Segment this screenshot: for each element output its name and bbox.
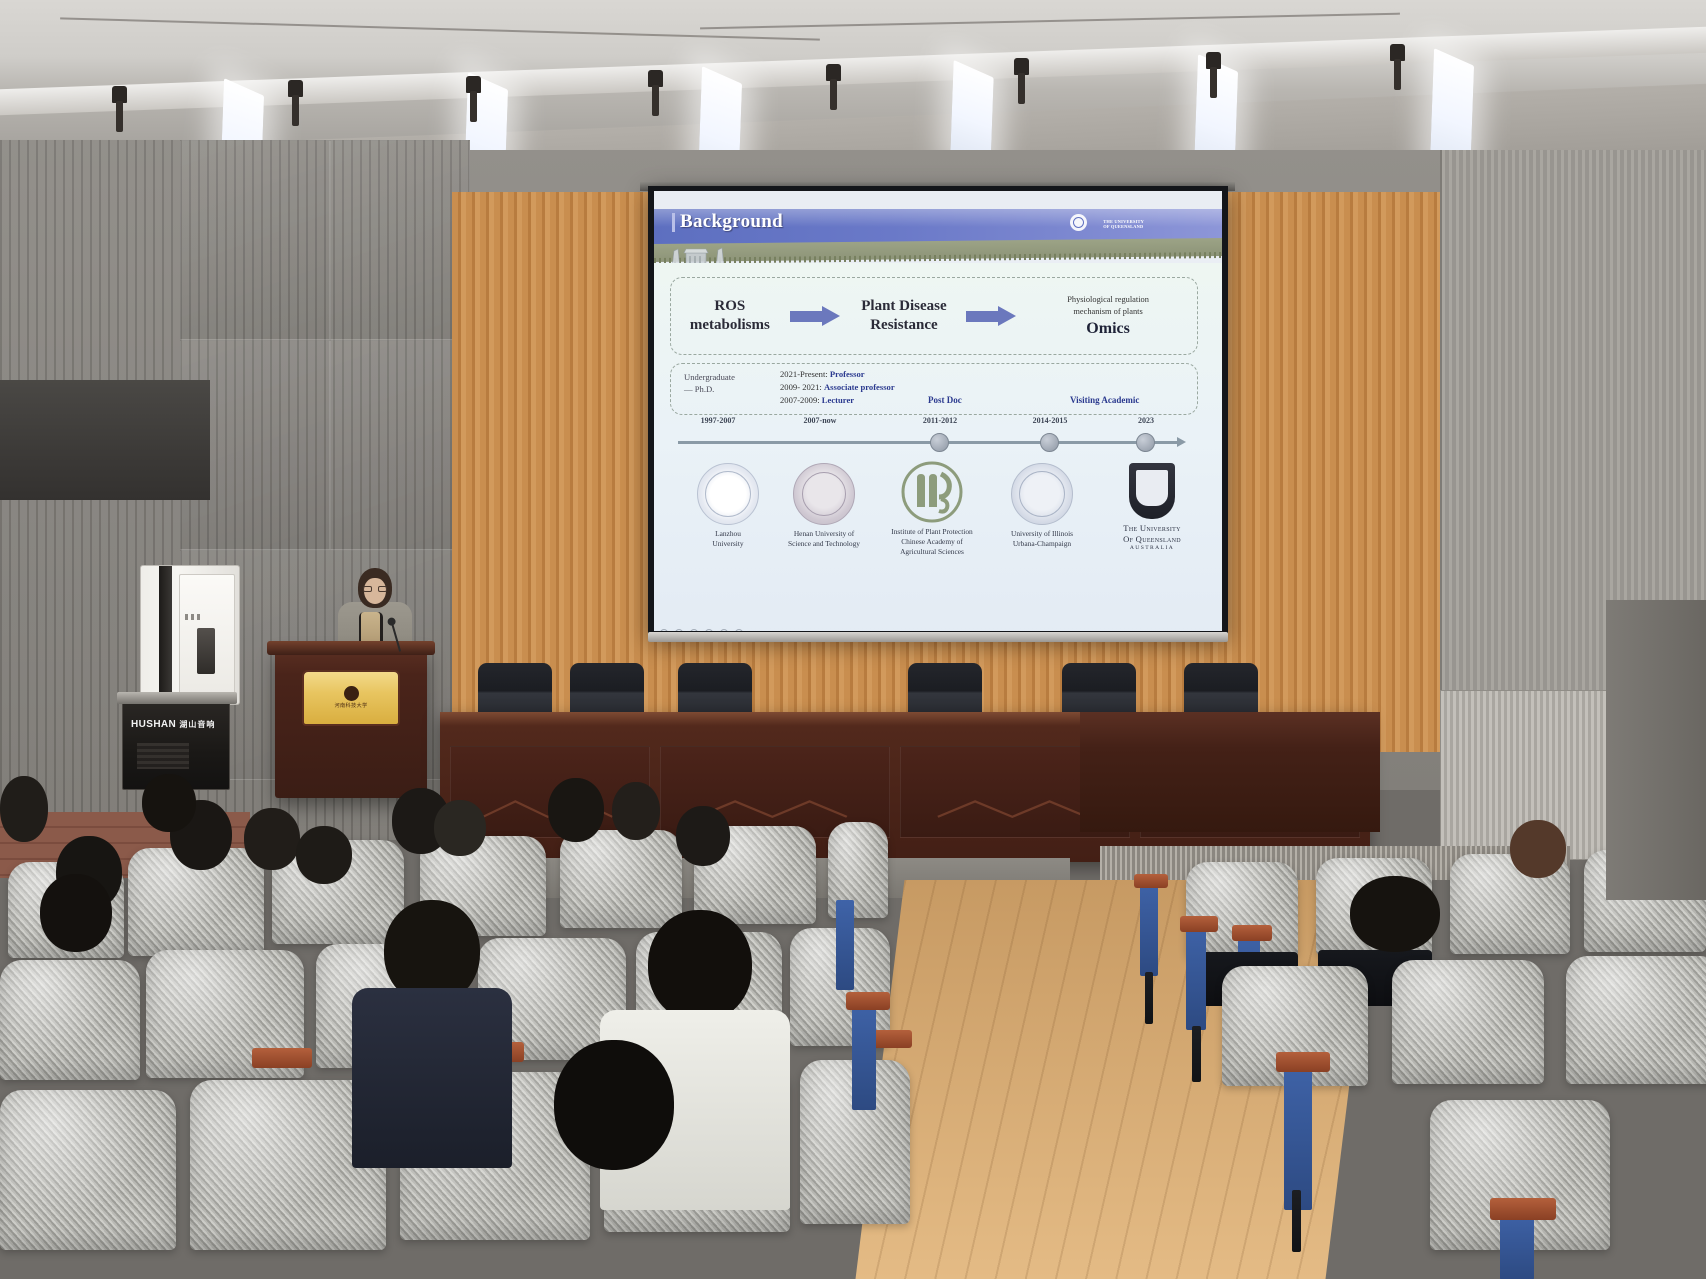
- track-spotlight-icon: [112, 86, 127, 132]
- audience-seat: [0, 1090, 176, 1250]
- ac-control-dots-icon: [185, 614, 203, 620]
- track-spotlight-icon: [826, 64, 841, 110]
- laser-icon[interactable]: [720, 629, 728, 631]
- ac-display-panel: [197, 628, 215, 674]
- track-spotlight-icon: [1014, 58, 1029, 104]
- timeline-date: 2014-2015: [1033, 416, 1068, 425]
- air-conditioner-unit: [140, 565, 240, 705]
- audience-person: [648, 910, 752, 1022]
- illinois-university-seal-icon: [1011, 463, 1073, 525]
- institution-henan: Henan University of Science and Technolo…: [772, 463, 876, 549]
- institution-row: Lanzhou University Henan University of S…: [664, 463, 1204, 593]
- audience-person: [612, 782, 660, 840]
- seat-armrest: [1180, 916, 1218, 932]
- timeline-node: [1040, 433, 1059, 452]
- uq-shield-icon: [1129, 463, 1175, 519]
- pdr-line1: Plant Disease: [861, 297, 946, 316]
- flow-row: ROS metabolisms Plant Disease Resistance: [670, 277, 1198, 355]
- role-title: Professor: [830, 369, 865, 379]
- seat-side-panel: [1500, 1210, 1534, 1279]
- wall-panel: [330, 140, 470, 340]
- seat-side-panel: [852, 1000, 876, 1110]
- pen-icon[interactable]: [675, 629, 683, 631]
- audience-person: [0, 776, 48, 842]
- amplifier-brand: HUSHAN: [131, 719, 176, 730]
- wall-panel: [330, 340, 470, 550]
- screen-bottom-weight-bar: [648, 632, 1228, 642]
- undergrad-line2: — Ph.D.: [684, 383, 735, 395]
- audience-person: [1350, 876, 1440, 952]
- audience-seat: [1566, 956, 1706, 1084]
- inst-name-line: University: [676, 539, 780, 549]
- track-spotlight-icon: [648, 70, 663, 116]
- career-role-row: 2007-2009: Lecturer: [780, 394, 895, 407]
- seat-side-panel: [1140, 880, 1158, 976]
- career-role-row: 2021-Present: Professor: [780, 368, 895, 381]
- flow-step-ros: ROS metabolisms: [690, 297, 770, 335]
- visiting-academic-label: Visiting Academic: [1070, 395, 1139, 405]
- inst-name-line: Lanzhou: [676, 529, 780, 539]
- inst-name-line: Agricultural Sciences: [876, 547, 988, 557]
- audience-person: [676, 806, 730, 866]
- timeline-date: 2007-now: [804, 416, 837, 425]
- timeline-date: 2023: [1138, 416, 1154, 425]
- inst-name-line: Of Queensland: [1096, 534, 1208, 545]
- highlighter-icon[interactable]: [690, 629, 698, 631]
- flow-step-plant-disease-resistance: Plant Disease Resistance: [861, 297, 946, 335]
- wall-recess: [0, 380, 210, 500]
- side-door: [1606, 600, 1706, 900]
- timeline-date: 2011-2012: [923, 416, 957, 425]
- track-spotlight-icon: [288, 80, 303, 126]
- inst-name-line: Urbana-Champaign: [990, 539, 1094, 549]
- institution-queensland: The University Of Queensland AUSTRALIA: [1096, 461, 1208, 553]
- seat-armrest: [846, 992, 890, 1010]
- seat-side-panel: [836, 900, 854, 990]
- timeline-date: 1997-2007: [701, 416, 736, 425]
- inst-name-line: Henan University of: [772, 529, 876, 539]
- wall-panel: [180, 140, 330, 340]
- podium-plaque: 河南科技大学: [302, 670, 400, 726]
- inst-name-line: Chinese Academy of: [876, 537, 988, 547]
- menu-icon[interactable]: [735, 629, 743, 631]
- institution-illinois: University of Illinois Urbana-Champaign: [990, 463, 1094, 549]
- audience-seat: [1392, 960, 1544, 1084]
- ros-line2: metabolisms: [690, 316, 770, 335]
- career-role-row: 2009- 2021: Associate professor: [780, 381, 895, 394]
- audience-person: [142, 774, 196, 832]
- presentation-slide: Background THE UNIVERSITY OF QUEENSLAND: [654, 191, 1222, 631]
- ros-line1: ROS: [690, 297, 770, 316]
- lecture-hall-photo: Background THE UNIVERSITY OF QUEENSLAND: [0, 0, 1706, 1279]
- stage-side-rail: [1080, 712, 1380, 832]
- pdr-line2: Resistance: [861, 316, 946, 335]
- omics-sub-line2: mechanism of plants: [1038, 307, 1178, 318]
- amplifier-grill: [137, 743, 189, 769]
- seat-armrest: [252, 1048, 312, 1068]
- uq-name-line2: OF QUEENSLAND: [1103, 224, 1144, 230]
- track-spotlight-icon: [1206, 52, 1221, 98]
- inst-country: AUSTRALIA: [1096, 545, 1208, 552]
- career-block: Undergraduate — Ph.D. 2021-Present: Prof…: [670, 363, 1198, 415]
- seat-side-panel: [1284, 1060, 1312, 1210]
- uq-seal-icon: [1070, 214, 1087, 231]
- plaque-line1: 河南科技大学: [335, 703, 368, 710]
- institution-ipp-caas: Institute of Plant Protection Chinese Ac…: [876, 461, 988, 556]
- seat-armrest: [1490, 1198, 1556, 1220]
- omics-label: Omics: [1038, 320, 1178, 338]
- audience-person: [434, 800, 486, 856]
- audience-person: [244, 808, 300, 870]
- audience-person: [296, 826, 352, 884]
- pointer-icon[interactable]: [660, 629, 668, 631]
- university-emblem-icon: [344, 686, 359, 701]
- undergrad-line1: Undergraduate: [684, 371, 735, 383]
- timeline-axis: [678, 441, 1178, 444]
- seat-armrest: [1232, 925, 1272, 941]
- inst-name-line: Science and Technology: [772, 539, 876, 549]
- arrow-right-icon: [966, 306, 1018, 326]
- glasses-icon: [363, 586, 387, 592]
- seat-side-panel: [1186, 922, 1206, 1030]
- career-roles: 2021-Present: Professor 2009- 2021: Asso…: [780, 368, 895, 407]
- lanzhou-university-seal-icon: [697, 463, 759, 525]
- role-period: 2021-Present:: [780, 369, 828, 379]
- slide-title: Background: [680, 211, 783, 233]
- track-spotlight-icon: [466, 76, 481, 122]
- caas-ipp-logo-icon: [901, 461, 963, 523]
- slideshow-toolbar[interactable]: [660, 629, 743, 631]
- audience-person-body: [352, 988, 512, 1168]
- amplifier-brand-cn: 湖山音响: [179, 720, 215, 729]
- title-accent-tick: [672, 213, 675, 232]
- role-title: Associate professor: [824, 382, 895, 392]
- audience-seat: [560, 830, 682, 928]
- timeline-node: [930, 433, 949, 452]
- inst-name-line: The University: [1096, 523, 1208, 534]
- slide-body: ROS metabolisms Plant Disease Resistance: [654, 263, 1222, 631]
- henan-university-seal-icon: [793, 463, 855, 525]
- role-title: Lecturer: [822, 395, 854, 405]
- undergrad-label: Undergraduate — Ph.D.: [684, 371, 735, 396]
- timeline-node: [1136, 433, 1155, 452]
- role-period: 2009- 2021:: [780, 382, 822, 392]
- arrow-right-icon: [790, 306, 842, 326]
- amplifier-brand-label: HUSHAN 湖山音响: [131, 719, 215, 730]
- seat-armrest: [1276, 1052, 1330, 1072]
- inst-name-line: University of Illinois: [990, 529, 1094, 539]
- audience-person: [1510, 820, 1566, 878]
- role-period: 2007-2009:: [780, 395, 820, 405]
- flow-step-omics: Physiological regulation mechanism of pl…: [1038, 295, 1178, 338]
- postdoc-label: Post Doc: [928, 395, 962, 405]
- podium: 河南科技大学: [275, 648, 427, 798]
- uq-logo: THE UNIVERSITY OF QUEENSLAND: [1058, 213, 1144, 235]
- institution-lanzhou: Lanzhou University: [676, 463, 780, 549]
- audience-person: [554, 1040, 674, 1170]
- seat-leg: [1192, 1026, 1201, 1082]
- omics-sub-line1: Physiological regulation: [1038, 295, 1178, 306]
- eraser-icon[interactable]: [705, 629, 713, 631]
- projection-screen: Background THE UNIVERSITY OF QUEENSLAND: [648, 186, 1228, 638]
- audience-seat: [0, 960, 140, 1080]
- seat-armrest: [1134, 874, 1168, 888]
- seat-leg: [1145, 972, 1153, 1024]
- seat-leg: [1292, 1190, 1301, 1252]
- inst-name-line: Institute of Plant Protection: [876, 527, 988, 537]
- audience-person: [40, 874, 112, 952]
- track-spotlight-icon: [1390, 44, 1405, 90]
- audience-person: [548, 778, 604, 842]
